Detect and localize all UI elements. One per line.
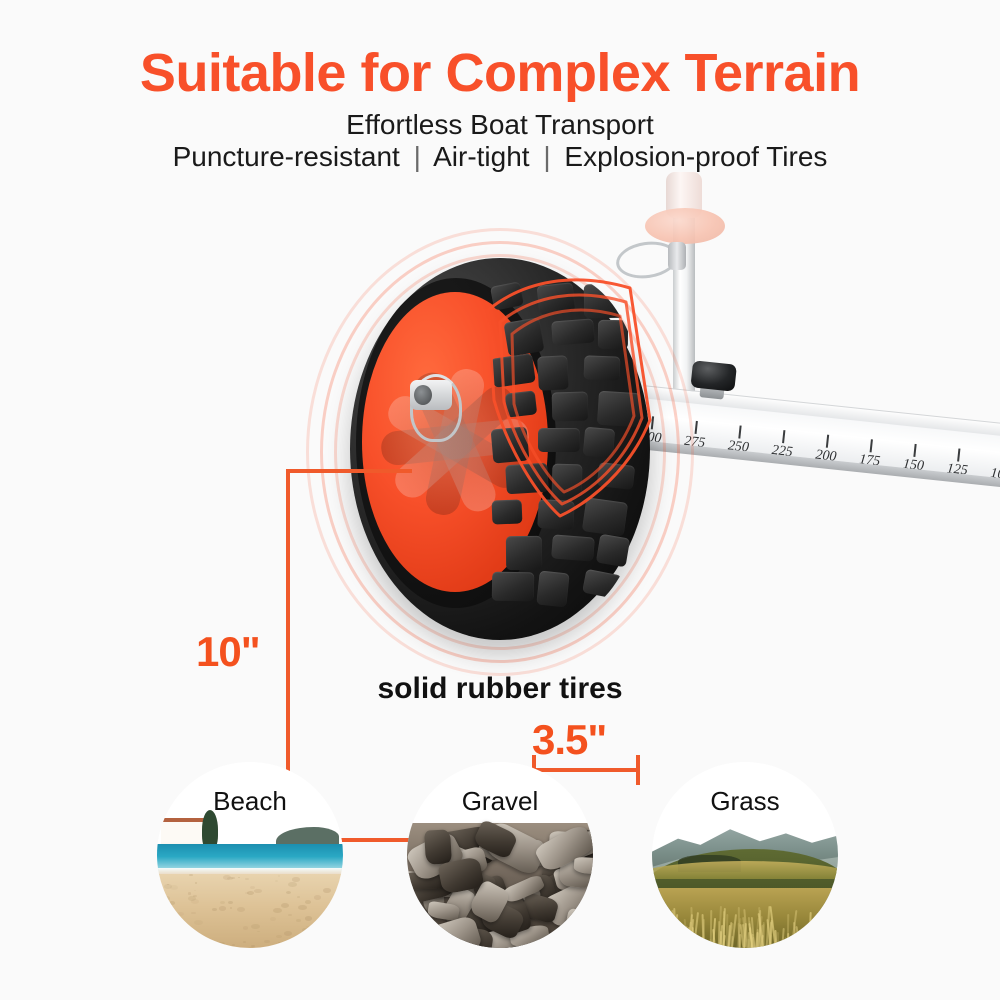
sand-speckle — [238, 877, 240, 878]
feature-explosion-proof: Explosion-proof Tires — [564, 141, 827, 172]
terrain-label-beach: Beach — [157, 786, 343, 817]
sand-speckle — [296, 919, 301, 922]
sand-speckle — [168, 942, 171, 944]
ruler-tick — [913, 444, 916, 457]
sand-speckle — [177, 912, 184, 916]
tread-block — [551, 534, 595, 561]
sand-speckle — [254, 889, 262, 894]
grass-blade — [691, 927, 693, 948]
grass-blade — [676, 925, 679, 948]
sand-speckle — [251, 924, 260, 929]
sand-speckle — [337, 919, 342, 922]
sand-speckle — [278, 875, 281, 877]
tread-block — [582, 569, 622, 599]
ruler-tick — [957, 448, 960, 461]
sand-speckle — [273, 908, 282, 913]
sand-speckle — [278, 942, 280, 943]
sand-speckle — [163, 896, 170, 900]
sand-speckle — [323, 888, 331, 893]
grass-blade — [803, 929, 806, 948]
sand-speckle — [193, 895, 197, 897]
sand-speckle — [305, 916, 312, 920]
sand-speckle — [298, 936, 305, 940]
sand-speckle — [320, 931, 324, 934]
post-lug — [668, 242, 686, 270]
feature-separator-2: | — [537, 141, 556, 172]
ruler-tick — [870, 439, 873, 452]
sand-speckle — [276, 935, 282, 939]
sand-speckle — [237, 907, 245, 912]
sand-speckle — [212, 908, 217, 911]
sand-speckle — [213, 943, 216, 945]
sand-speckle — [195, 882, 197, 883]
sand-speckle — [334, 898, 339, 901]
terrain-label-grass: Grass — [652, 786, 838, 817]
axle-bore — [414, 385, 432, 405]
sand-speckle — [209, 944, 215, 947]
ruler-tick — [695, 421, 698, 434]
shield-icon — [480, 270, 670, 520]
grass-blade — [770, 935, 772, 948]
sand-speckle — [298, 905, 307, 910]
sand-speckle — [329, 913, 338, 918]
ruler-tick — [782, 430, 785, 443]
grass-blade — [703, 919, 705, 948]
feature-separator-1: | — [408, 141, 427, 172]
sand-speckle — [331, 940, 338, 944]
sand-speckle — [288, 914, 292, 916]
sand-speckle — [245, 892, 249, 894]
product-stage: 300275250225200175150125100 — [0, 180, 1000, 700]
gravel-ground — [407, 823, 593, 948]
dimension-label-width: 3.5" — [532, 716, 606, 764]
sand-speckle — [223, 875, 232, 880]
sand-speckle — [194, 920, 203, 925]
sand-speckle — [270, 917, 276, 921]
sand-speckle — [306, 926, 309, 928]
sand-speckle — [250, 886, 255, 889]
sand-speckle — [160, 923, 165, 926]
sand-speckle — [158, 883, 161, 885]
sand-speckle — [169, 901, 176, 905]
sand-speckle — [275, 880, 278, 882]
sand-speckle — [173, 937, 180, 941]
beach-sand — [157, 874, 343, 948]
grass-sunlit-ridge — [652, 861, 838, 880]
sand-speckle — [232, 944, 235, 946]
terrain-label-gravel: Gravel — [407, 786, 593, 817]
product-caption: solid rubber tires — [0, 672, 1000, 706]
product-infographic: Suitable for Complex Terrain Effortless … — [0, 0, 1000, 1000]
tread-block — [596, 534, 630, 568]
page-title: Suitable for Complex Terrain — [0, 46, 1000, 101]
sand-speckle — [158, 902, 165, 906]
sand-speckle — [243, 926, 249, 929]
sand-speckle — [281, 903, 289, 908]
ruler-tick — [826, 435, 829, 448]
terrain-circle-gravel[interactable]: Gravel — [407, 762, 593, 948]
terrain-gallery: Beach Gravel Grass — [0, 762, 1000, 952]
terrain-circle-grass[interactable]: Grass — [652, 762, 838, 948]
sand-speckle — [220, 901, 225, 904]
sand-speckle — [251, 945, 256, 948]
dimension-tick-top — [286, 469, 412, 473]
sand-speckle — [243, 941, 246, 943]
sand-speckle — [170, 885, 178, 890]
sand-speckle — [194, 890, 196, 891]
sand-speckle — [334, 904, 337, 906]
sand-speckle — [186, 926, 189, 928]
adjustment-knob-icon[interactable] — [690, 360, 737, 391]
feature-puncture-resistant: Puncture-resistant — [173, 141, 400, 172]
sand-speckle — [219, 906, 227, 911]
sand-speckle — [169, 946, 172, 948]
sand-speckle — [188, 892, 191, 894]
sand-speckle — [162, 946, 165, 948]
tread-block — [492, 572, 534, 602]
sand-speckle — [338, 926, 343, 929]
sand-speckle — [331, 928, 336, 931]
subtitle: Effortless Boat Transport — [0, 110, 1000, 141]
sand-speckle — [228, 901, 233, 904]
tread-block — [536, 571, 569, 608]
sand-speckle — [305, 900, 312, 904]
sand-speckle — [284, 931, 292, 936]
dimension-label-height: 10" — [196, 628, 260, 676]
sand-speckle — [288, 882, 297, 887]
sand-speckle — [297, 896, 300, 898]
sand-speckle — [189, 874, 193, 876]
terrain-circle-beach[interactable]: Beach — [157, 762, 343, 948]
sand-speckle — [327, 907, 331, 910]
feature-list: Puncture-resistant | Air-tight | Explosi… — [0, 142, 1000, 173]
sand-speckle — [245, 878, 248, 880]
sand-speckle — [291, 941, 295, 943]
sand-speckle — [257, 931, 260, 933]
grass-blade — [825, 928, 827, 948]
sand-speckle — [302, 928, 308, 932]
post-collar — [645, 208, 725, 244]
sand-speckle — [264, 940, 270, 944]
sand-speckle — [286, 891, 292, 894]
grass-field — [652, 888, 838, 948]
wheel-assembly — [332, 252, 662, 647]
sand-speckle — [292, 877, 300, 882]
sand-speckle — [191, 912, 196, 915]
feature-air-tight: Air-tight — [433, 141, 529, 172]
sand-speckle — [230, 907, 233, 909]
sand-speckle — [314, 895, 321, 899]
tread-block — [506, 536, 542, 570]
sand-speckle — [218, 942, 225, 946]
gravel-rock — [424, 829, 451, 864]
ruler-tick — [738, 425, 741, 438]
sand-speckle — [321, 946, 328, 948]
grass-blade — [816, 938, 819, 948]
sand-speckle — [158, 908, 164, 911]
